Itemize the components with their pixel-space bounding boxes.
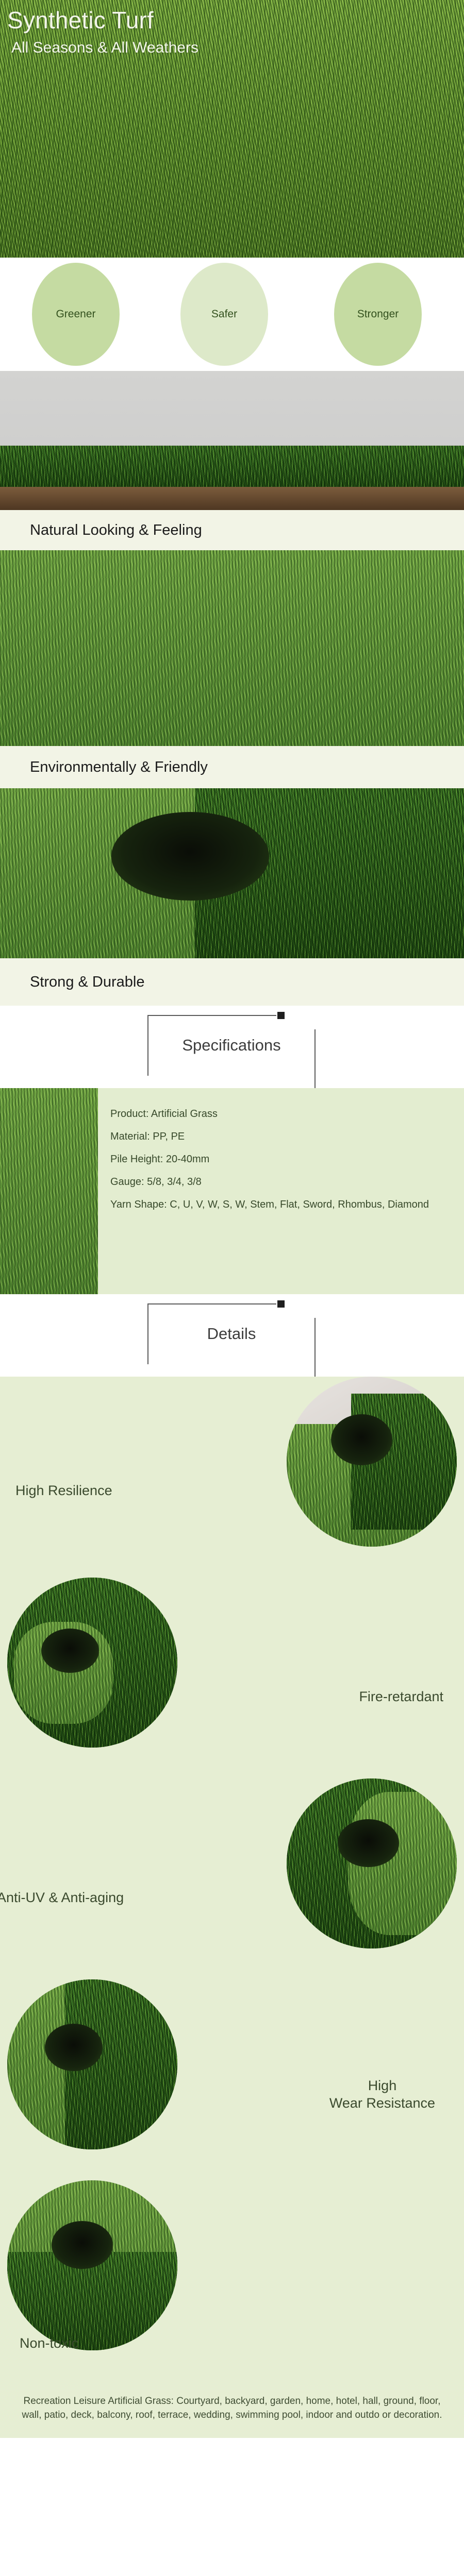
specifications-photo bbox=[0, 1088, 98, 1294]
specifications-panel: Product: Artificial Grass Material: PP, … bbox=[0, 1088, 464, 1294]
badge-greener[interactable]: Greener bbox=[32, 263, 120, 366]
specifications-heading: Specifications bbox=[147, 1015, 316, 1076]
detail-image-wear-resistance bbox=[7, 1979, 177, 2149]
spec-item-product: Product: Artificial Grass bbox=[110, 1108, 454, 1121]
badge-label: Safer bbox=[211, 308, 237, 320]
caption-text: Environmentally & Friendly bbox=[30, 759, 208, 776]
detail-image-anti-uv bbox=[287, 1778, 457, 1948]
turf-roll-closeup-photo bbox=[0, 788, 464, 958]
spec-item-gauge: Gauge: 5/8, 3/4, 3/8 bbox=[110, 1176, 454, 1189]
details-heading: Details bbox=[147, 1303, 316, 1364]
detail-label-fire-retardant: Fire-retardant bbox=[359, 1688, 443, 1706]
caption-durable: Strong & Durable bbox=[0, 958, 464, 1006]
detail-row-high-resilience: High Resilience bbox=[0, 1377, 464, 1578]
details-heading-frame: Details bbox=[0, 1294, 464, 1377]
detail-label-non-toxic: Non-toxic bbox=[20, 2335, 78, 2352]
spec-item-yarn-shape: Yarn Shape: C, U, V, W, S, W, Stem, Flat… bbox=[110, 1198, 454, 1211]
caption-natural: Natural Looking & Feeling bbox=[0, 510, 464, 550]
detail-row-anti-uv: Anti-UV & Anti-aging bbox=[0, 1778, 464, 1979]
grass-blades bbox=[0, 446, 464, 487]
badge-stronger[interactable]: Stronger bbox=[334, 263, 422, 366]
detail-image-high-resilience bbox=[287, 1377, 457, 1547]
hero-title: Synthetic Turf bbox=[7, 6, 154, 34]
caption-text: Natural Looking & Feeling bbox=[30, 522, 202, 539]
hero-subtitle: All Seasons & All Weathers bbox=[11, 39, 198, 57]
spec-item-material: Material: PP, PE bbox=[110, 1130, 454, 1143]
detail-image-non-toxic bbox=[7, 2180, 177, 2350]
detail-row-non-toxic: Non-toxic bbox=[0, 2180, 464, 2381]
grass-closeup-photo bbox=[0, 550, 464, 746]
badge-safer[interactable]: Safer bbox=[180, 263, 268, 366]
detail-label-high-resilience: High Resilience bbox=[15, 1482, 112, 1500]
badge-label: Greener bbox=[56, 308, 95, 320]
detail-image-fire-retardant bbox=[7, 1578, 177, 1748]
spec-item-pile-height: Pile Height: 20-40mm bbox=[110, 1153, 454, 1166]
roll-hole bbox=[111, 812, 269, 901]
specifications-heading-frame: Specifications bbox=[0, 1006, 464, 1088]
turf-roll-photo bbox=[0, 371, 464, 510]
specifications-list: Product: Artificial Grass Material: PP, … bbox=[98, 1088, 464, 1294]
benefit-badges: Greener Safer Stronger bbox=[0, 258, 464, 371]
detail-row-wear-resistance: High Wear Resistance bbox=[0, 1979, 464, 2180]
detail-row-fire-retardant: Fire-retardant bbox=[0, 1578, 464, 1778]
roll-illustration bbox=[0, 788, 464, 958]
wood-plank bbox=[0, 487, 464, 510]
detail-label-anti-uv: Anti-UV & Anti-aging bbox=[0, 1889, 124, 1907]
badge-label: Stronger bbox=[357, 308, 399, 320]
hero-banner: Synthetic Turf All Seasons & All Weather… bbox=[0, 0, 464, 258]
caption-environmental: Environmentally & Friendly bbox=[0, 746, 464, 788]
detail-label-wear-resistance: High Wear Resistance bbox=[329, 2077, 435, 2112]
footer-text: Recreation Leisure Artificial Grass: Cou… bbox=[22, 2396, 442, 2420]
footer-description: Recreation Leisure Artificial Grass: Cou… bbox=[0, 2381, 464, 2438]
details-panel: High Resilience Fire-retardant Anti-UV &… bbox=[0, 1377, 464, 2381]
caption-text: Strong & Durable bbox=[30, 974, 144, 991]
